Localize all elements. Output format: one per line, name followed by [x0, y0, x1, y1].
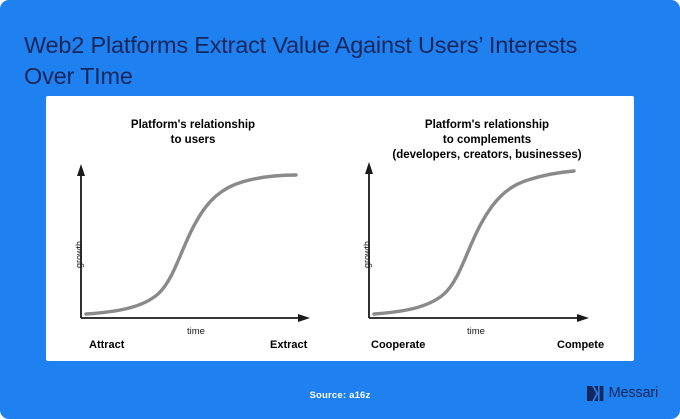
- growth-curve-users: [86, 175, 296, 314]
- x-axis-complements: [369, 314, 589, 322]
- x-axis-users: [81, 314, 310, 322]
- x-axis-label-complements: time: [446, 326, 506, 337]
- chart-panel-complements: Platform's relationship to complements (…: [340, 96, 634, 361]
- x-axis-label-users: time: [166, 326, 226, 337]
- chart-panel-users: Platform's relationship to users growth …: [46, 96, 340, 361]
- chart-plot-complements: [340, 96, 634, 361]
- growth-curve-complements: [374, 171, 574, 314]
- y-axis-label-complements: growth: [362, 241, 372, 268]
- page-title: Web2 Platforms Extract Value Against Use…: [24, 30, 624, 92]
- brand-name: Messari: [609, 386, 658, 401]
- source-credit: Source: a16z: [0, 390, 680, 401]
- x-axis-start-label-users: Attract: [89, 339, 124, 351]
- y-axis-label-users: growth: [74, 241, 84, 268]
- x-axis-end-label-users: Extract: [270, 339, 307, 351]
- brand-logo: Messari: [587, 386, 658, 401]
- messari-m-icon: [587, 386, 604, 401]
- charts-container: Platform's relationship to users growth …: [46, 96, 634, 361]
- infographic-card: Web2 Platforms Extract Value Against Use…: [0, 0, 680, 419]
- x-axis-end-label-complements: Compete: [557, 339, 604, 351]
- chart-plot-users: [46, 96, 340, 361]
- x-axis-start-label-complements: Cooperate: [371, 339, 425, 351]
